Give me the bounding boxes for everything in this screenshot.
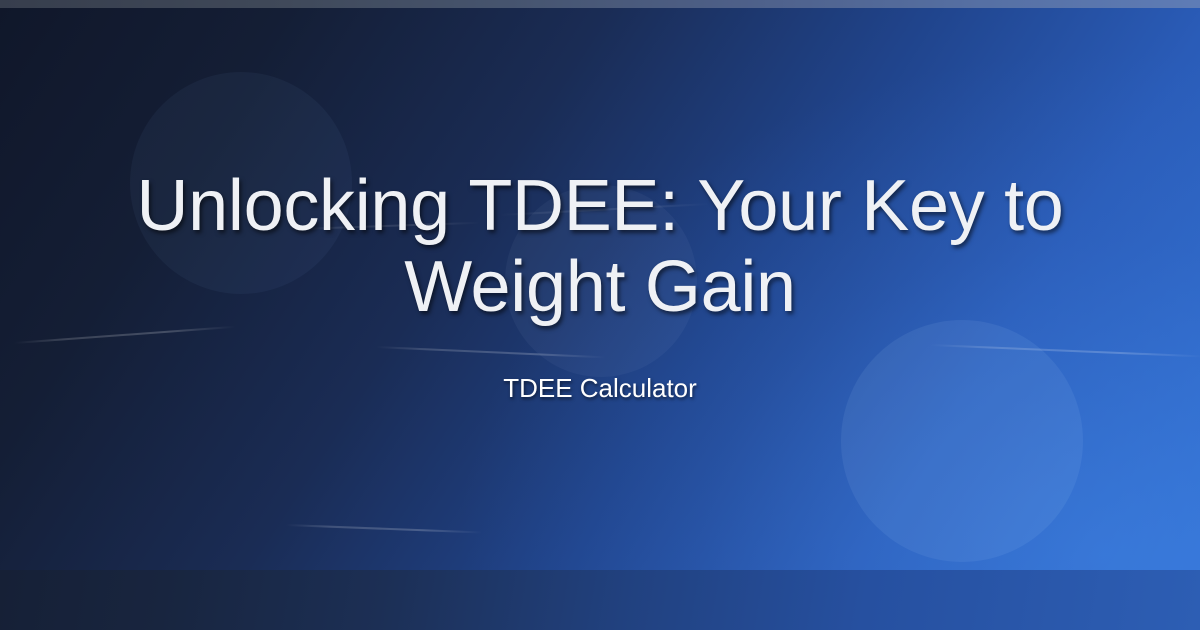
slide-subtitle: TDEE Calculator xyxy=(503,373,697,404)
slide-content: Unlocking TDEE: Your Key to Weight Gain … xyxy=(0,0,1200,570)
bottom-accent-band xyxy=(0,570,1200,630)
title-slide: Unlocking TDEE: Your Key to Weight Gain … xyxy=(0,0,1200,630)
slide-title: Unlocking TDEE: Your Key to Weight Gain xyxy=(55,166,1145,329)
